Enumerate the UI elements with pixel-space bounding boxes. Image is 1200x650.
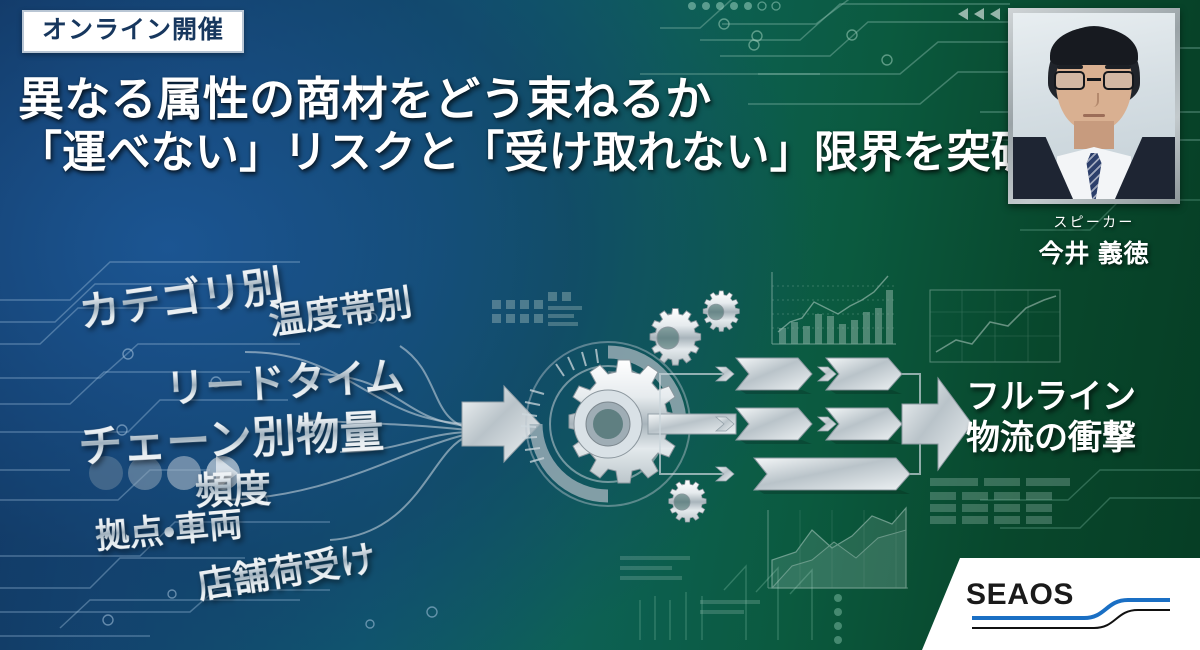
satellite-gear-lower bbox=[669, 480, 706, 522]
keyword-cloud: カテゴリ別 温度帯別 リードタイム チェーン別物量 頻度 拠点・車両 店舗荷受け bbox=[0, 255, 520, 595]
chevron-r3 bbox=[754, 458, 910, 490]
keyword-base-vehicle: 拠点・車両 bbox=[93, 497, 244, 559]
portrait-glasses-bridge bbox=[1087, 78, 1101, 81]
page-title: 異なる属性の商材をどう束ねるか 「運べない」リスクと「受け取れない」限界を突破す… bbox=[18, 74, 998, 178]
chevron-shadows bbox=[740, 390, 910, 494]
speaker-name: 今井 義徳 bbox=[1004, 234, 1184, 270]
portrait-brow-left bbox=[1057, 65, 1083, 69]
logo-swoosh-icon bbox=[966, 578, 1176, 634]
portrait-glasses-right bbox=[1103, 71, 1134, 90]
online-event-badge: オンライン開催 bbox=[22, 10, 244, 53]
circuit-nodes-top bbox=[719, 19, 892, 65]
bar-lines-left bbox=[548, 306, 582, 326]
keyword-temperature: 温度帯別 bbox=[265, 273, 415, 345]
outcome-line-2: 物流の衝撃 bbox=[966, 418, 1196, 459]
line-chart-decor bbox=[930, 290, 1060, 362]
speaker-photo-frame bbox=[1008, 8, 1180, 204]
seaos-logo: SEAOS bbox=[966, 578, 1176, 634]
feed-arrows bbox=[716, 367, 836, 481]
table-blocks-decor bbox=[930, 478, 1070, 524]
chevron-r2c1 bbox=[736, 408, 812, 440]
title-line-2: 「運べない」リスクと「受け取れない」限界を突破する bbox=[18, 128, 998, 179]
portrait-mouth bbox=[1083, 114, 1105, 117]
portrait-brow-right bbox=[1105, 65, 1131, 69]
chevron-blocks bbox=[736, 358, 910, 490]
gear-hub-rings bbox=[521, 342, 690, 506]
triangle-arrows-top bbox=[958, 8, 1000, 20]
main-gear bbox=[569, 360, 679, 483]
chevron-r1c1 bbox=[736, 358, 812, 390]
area-chart-decor bbox=[768, 508, 908, 588]
title-line-1: 異なる属性の商材をどう束ねるか bbox=[18, 74, 998, 126]
outcome-line-1: フルライン bbox=[966, 377, 1196, 418]
chevron-r2c2 bbox=[826, 408, 902, 440]
portrait-glasses-left bbox=[1054, 71, 1085, 90]
dot-sequence-top bbox=[688, 2, 752, 10]
dot-outline-top bbox=[758, 2, 780, 10]
bar-chart-decor bbox=[772, 272, 896, 344]
portrait-lapel-left bbox=[1013, 137, 1073, 199]
speaker-block: スピーカー 今井 義徳 bbox=[1004, 8, 1184, 270]
chevron-r1c2 bbox=[826, 358, 902, 390]
keyword-category: カテゴリ別 bbox=[75, 251, 286, 339]
branch-rails bbox=[660, 374, 920, 474]
gear-output-bar bbox=[648, 414, 736, 434]
outcome-text: フルライン 物流の衝撃 bbox=[966, 377, 1196, 460]
portrait-nose bbox=[1089, 93, 1099, 107]
text-blocks-decor bbox=[620, 556, 760, 614]
portrait-lapel-right bbox=[1115, 137, 1175, 199]
presentation-slide: オンライン開催 異なる属性の商材をどう束ねるか 「運べない」リスクと「受け取れな… bbox=[0, 0, 1200, 650]
output-arrow bbox=[902, 378, 972, 470]
speaker-role-label: スピーカー bbox=[1004, 212, 1184, 232]
badge-label: オンライン開催 bbox=[42, 16, 224, 44]
dot-column-bottom bbox=[834, 594, 842, 644]
satellite-gear-upper bbox=[650, 309, 701, 366]
speaker-portrait bbox=[1013, 13, 1175, 199]
satellite-gear-small bbox=[703, 291, 739, 332]
logo-panel: SEAOS bbox=[922, 558, 1200, 650]
portrait-fringe bbox=[1050, 27, 1138, 65]
